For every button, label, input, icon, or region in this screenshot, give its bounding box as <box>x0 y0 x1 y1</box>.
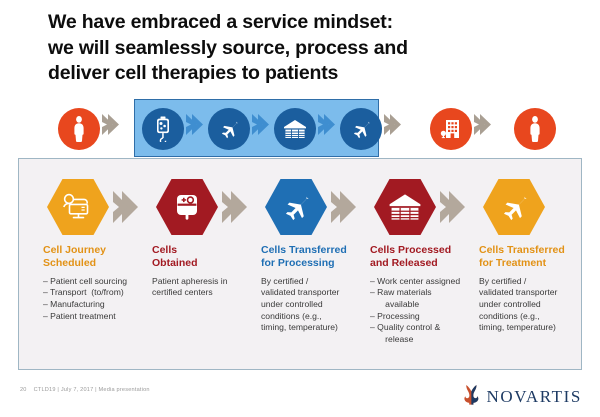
page-title-line-3: deliver cell therapies to patients <box>48 61 568 87</box>
chevron-arrow-icon <box>440 191 468 223</box>
footer-meta-text: CTLD19 | July 7, 2017 | Media presentati… <box>34 387 150 393</box>
top-node-hospital <box>430 108 472 150</box>
novartis-flame-icon <box>464 384 479 410</box>
airplane-icon <box>483 179 545 235</box>
blood-bag-icon <box>156 179 218 235</box>
stage-heading-line-2: for Treatment <box>479 257 546 269</box>
chevron-arrow-icon <box>384 114 406 135</box>
stage-heading-line-1: Cell Journey <box>43 244 106 256</box>
chevron-arrow-icon <box>102 114 124 135</box>
top-node-patient-start <box>58 108 100 150</box>
footer-meta: 20CTLD19 | July 7, 2017 | Media presenta… <box>20 387 150 393</box>
stage-body: – Patient cell sourcing – Transport (to/… <box>41 276 145 323</box>
stage-heading: Cells Processed and Released <box>368 244 472 270</box>
airplane-icon <box>340 108 382 150</box>
manufacturing-building-icon <box>274 108 316 150</box>
stage-cell-journey-scheduled: Cell Journey Scheduled – Patient cell so… <box>41 179 145 322</box>
chevron-arrow-icon <box>113 191 141 223</box>
stage-hexagon-wrap <box>483 179 545 235</box>
stage-paragraph: Patient apheresis in certified centers <box>152 276 254 299</box>
top-node-transfer-processing <box>208 108 250 150</box>
scheduling-monitor-icon <box>47 179 109 235</box>
stage-heading-line-2: and Released <box>370 257 438 269</box>
stage-hexagon-wrap <box>265 179 327 235</box>
stage-bullet: – Patient cell sourcing <box>43 276 145 288</box>
stage-heading: Cells Transferred for Processing <box>259 244 363 270</box>
stage-heading: Cells Transferred for Treatment <box>477 244 581 270</box>
stage-heading: Cells Obtained <box>150 244 254 270</box>
stage-body: Patient apheresis in certified centers <box>150 276 254 299</box>
top-process-strip <box>58 103 558 155</box>
stage-heading-line-1: Cells Transferred <box>261 244 347 256</box>
top-node-transfer-treatment <box>340 108 382 150</box>
stage-heading-line-2: for Processing <box>261 257 335 269</box>
patient-icon <box>514 108 556 150</box>
stage-hexagon-wrap <box>47 179 109 235</box>
stage-bullet: – Processing <box>370 311 472 323</box>
stage-bullet: – Manufacturing <box>43 299 145 311</box>
stage-bullet: – Work center assigned <box>370 276 472 288</box>
top-node-cells-obtained <box>142 108 184 150</box>
airplane-icon <box>265 179 327 235</box>
iv-bag-icon <box>142 108 184 150</box>
stage-heading-line-1: Cells <box>152 244 177 256</box>
stage-heading-line-1: Cells Transferred <box>479 244 565 256</box>
patient-icon <box>58 108 100 150</box>
stage-cells-processed-released: Cells Processed and Released – Work cent… <box>368 179 472 346</box>
page-title: We have embraced a service mindset: we w… <box>48 10 568 87</box>
page-number: 20 <box>20 387 27 393</box>
stage-bullet: – Patient treatment <box>43 311 145 323</box>
chevron-arrow-icon <box>318 114 340 135</box>
chevron-arrow-icon <box>252 114 274 135</box>
chevron-arrow-icon <box>186 114 208 135</box>
novartis-wordmark: NOVARTIS <box>486 387 582 407</box>
stage-heading: Cell Journey Scheduled <box>41 244 145 270</box>
stage-hexagon-wrap <box>156 179 218 235</box>
page-title-line-1: We have embraced a service mindset: <box>48 10 568 36</box>
airplane-icon <box>208 108 250 150</box>
stage-cells-transferred-treatment: Cells Transferred for Treatment By certi… <box>477 179 581 334</box>
stage-paragraph: By certified / validated transporter und… <box>261 276 363 334</box>
stage-cells-obtained: Cells Obtained Patient apheresis in cert… <box>150 179 254 299</box>
stage-bullet: – Quality control & release <box>370 322 472 345</box>
stage-heading-line-2: Obtained <box>152 257 198 269</box>
stage-heading-line-1: Cells Processed <box>370 244 451 256</box>
page-title-line-2: we will seamlessly source, process and <box>48 36 568 62</box>
stage-cells-transferred-processing: Cells Transferred for Processing By cert… <box>259 179 363 334</box>
stage-body: – Work center assigned – Raw materials a… <box>368 276 472 346</box>
chevron-arrow-icon <box>331 191 359 223</box>
top-node-patient-end <box>514 108 556 150</box>
stage-bullet: – Raw materials available <box>370 287 472 310</box>
hospital-icon <box>430 108 472 150</box>
chevron-arrow-icon <box>474 114 496 135</box>
top-node-processing <box>274 108 316 150</box>
novartis-logo: NOVARTIS <box>464 384 582 410</box>
stage-paragraph: By certified / validated transporter und… <box>479 276 581 334</box>
manufacturing-building-icon <box>374 179 436 235</box>
stage-heading-line-2: Scheduled <box>43 257 96 269</box>
stage-hexagon-wrap <box>374 179 436 235</box>
stage-bullet: – Transport (to/from) <box>43 287 145 299</box>
stage-body: By certified / validated transporter und… <box>477 276 581 334</box>
process-detail-panel: Cell Journey Scheduled – Patient cell so… <box>18 158 582 370</box>
stage-body: By certified / validated transporter und… <box>259 276 363 334</box>
chevron-arrow-icon <box>222 191 250 223</box>
